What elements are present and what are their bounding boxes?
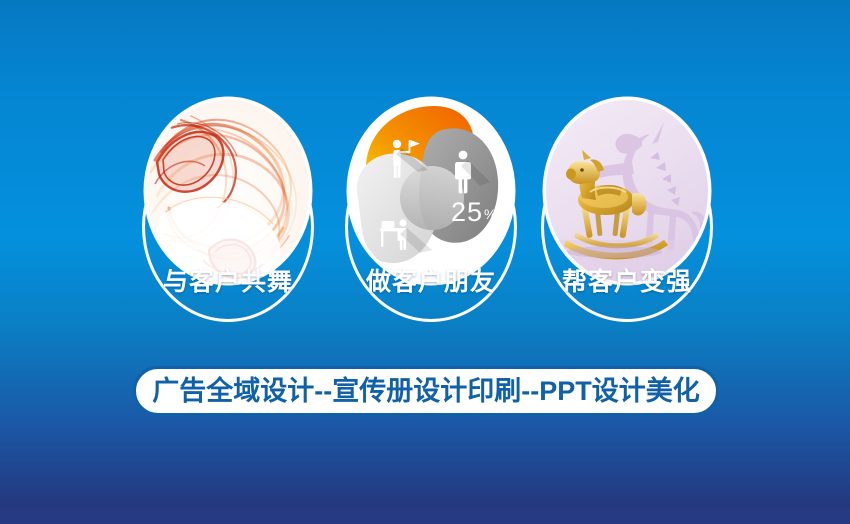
svg-text:25: 25 [451,197,483,227]
service-ribbon-text: 广告全域设计--宣传册设计印刷--PPT设计美化 [152,378,699,405]
badge-caption: 帮客户变强 [532,270,722,295]
badge-dance-with-client[interactable]: 与客户共舞 [133,92,323,332]
badge-artwork-rocking-horse [546,100,708,282]
badge-make-client-stronger[interactable]: 帮客户变强 [532,92,722,332]
badge-caption: 与客户共舞 [133,270,323,295]
poster-canvas: 与客户共舞 [0,0,850,524]
badge-caption: 做客户朋友 [336,270,526,295]
service-ribbon[interactable]: 广告全域设计--宣传册设计印刷--PPT设计美化 [133,366,719,416]
badge-artwork-smoke-swirl [147,100,309,282]
badge-artwork-infographic: 25 % [350,100,512,282]
badge-be-client-friend[interactable]: 25 % 做客户朋友 [336,92,526,332]
svg-text:%: % [484,206,496,222]
